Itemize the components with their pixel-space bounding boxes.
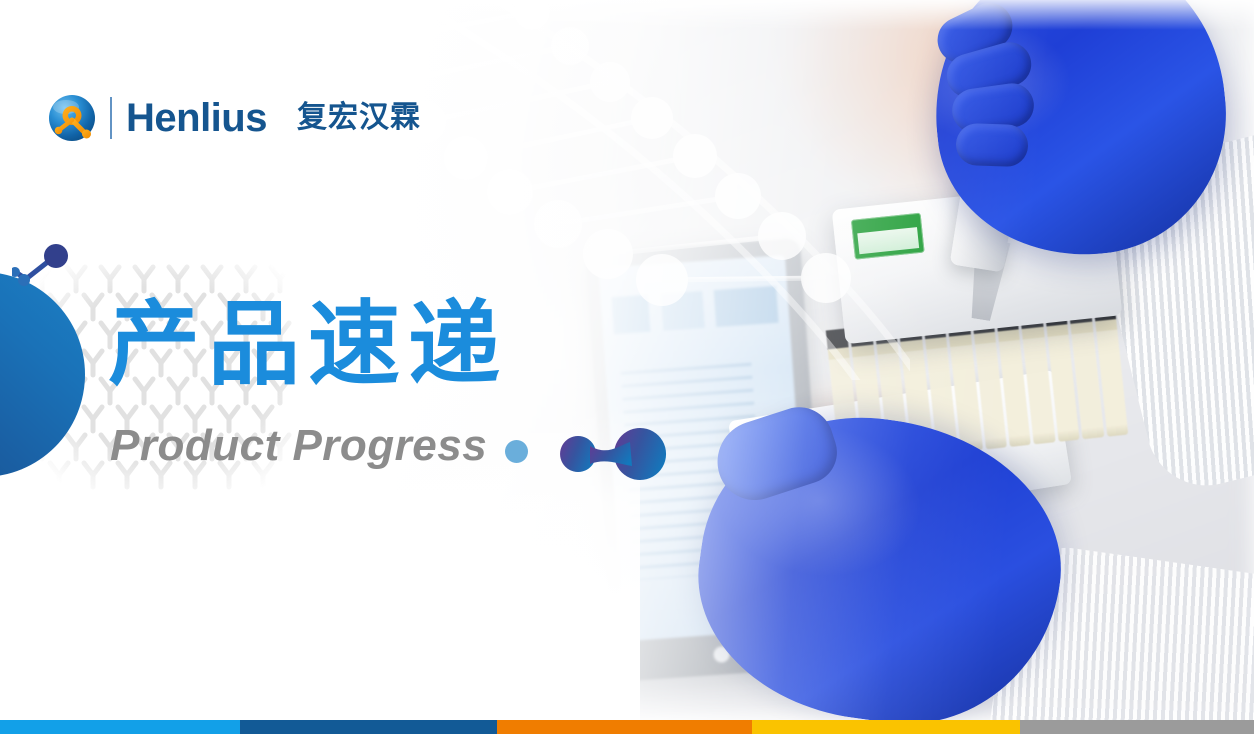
small-molecule-icon [12,243,74,291]
segment-light-blue [0,720,240,734]
logo-chinese-name: 复宏汉霖 [297,103,421,133]
logo-divider [110,97,112,139]
accent-dumbbell-shape [556,426,668,482]
segment-yellow [752,720,1020,734]
segment-gray [1020,720,1254,734]
segment-orange [497,720,752,734]
accent-dot-small [505,440,528,463]
page-title-chinese: 产品速递 [108,297,508,394]
brand-logo[interactable]: Henlius 复宏汉霖 [48,90,421,146]
logo-wordmark: Henlius [126,98,267,138]
segment-dark-blue [240,720,497,734]
page-subtitle-english: Product Progress [110,422,487,470]
henlius-molecule-logo-icon [48,94,96,142]
glove-finger [955,123,1028,167]
brand-color-bar [0,720,1254,734]
presentation-slide: Henlius 复宏汉霖 产品速递 Product Progress [0,0,1254,734]
